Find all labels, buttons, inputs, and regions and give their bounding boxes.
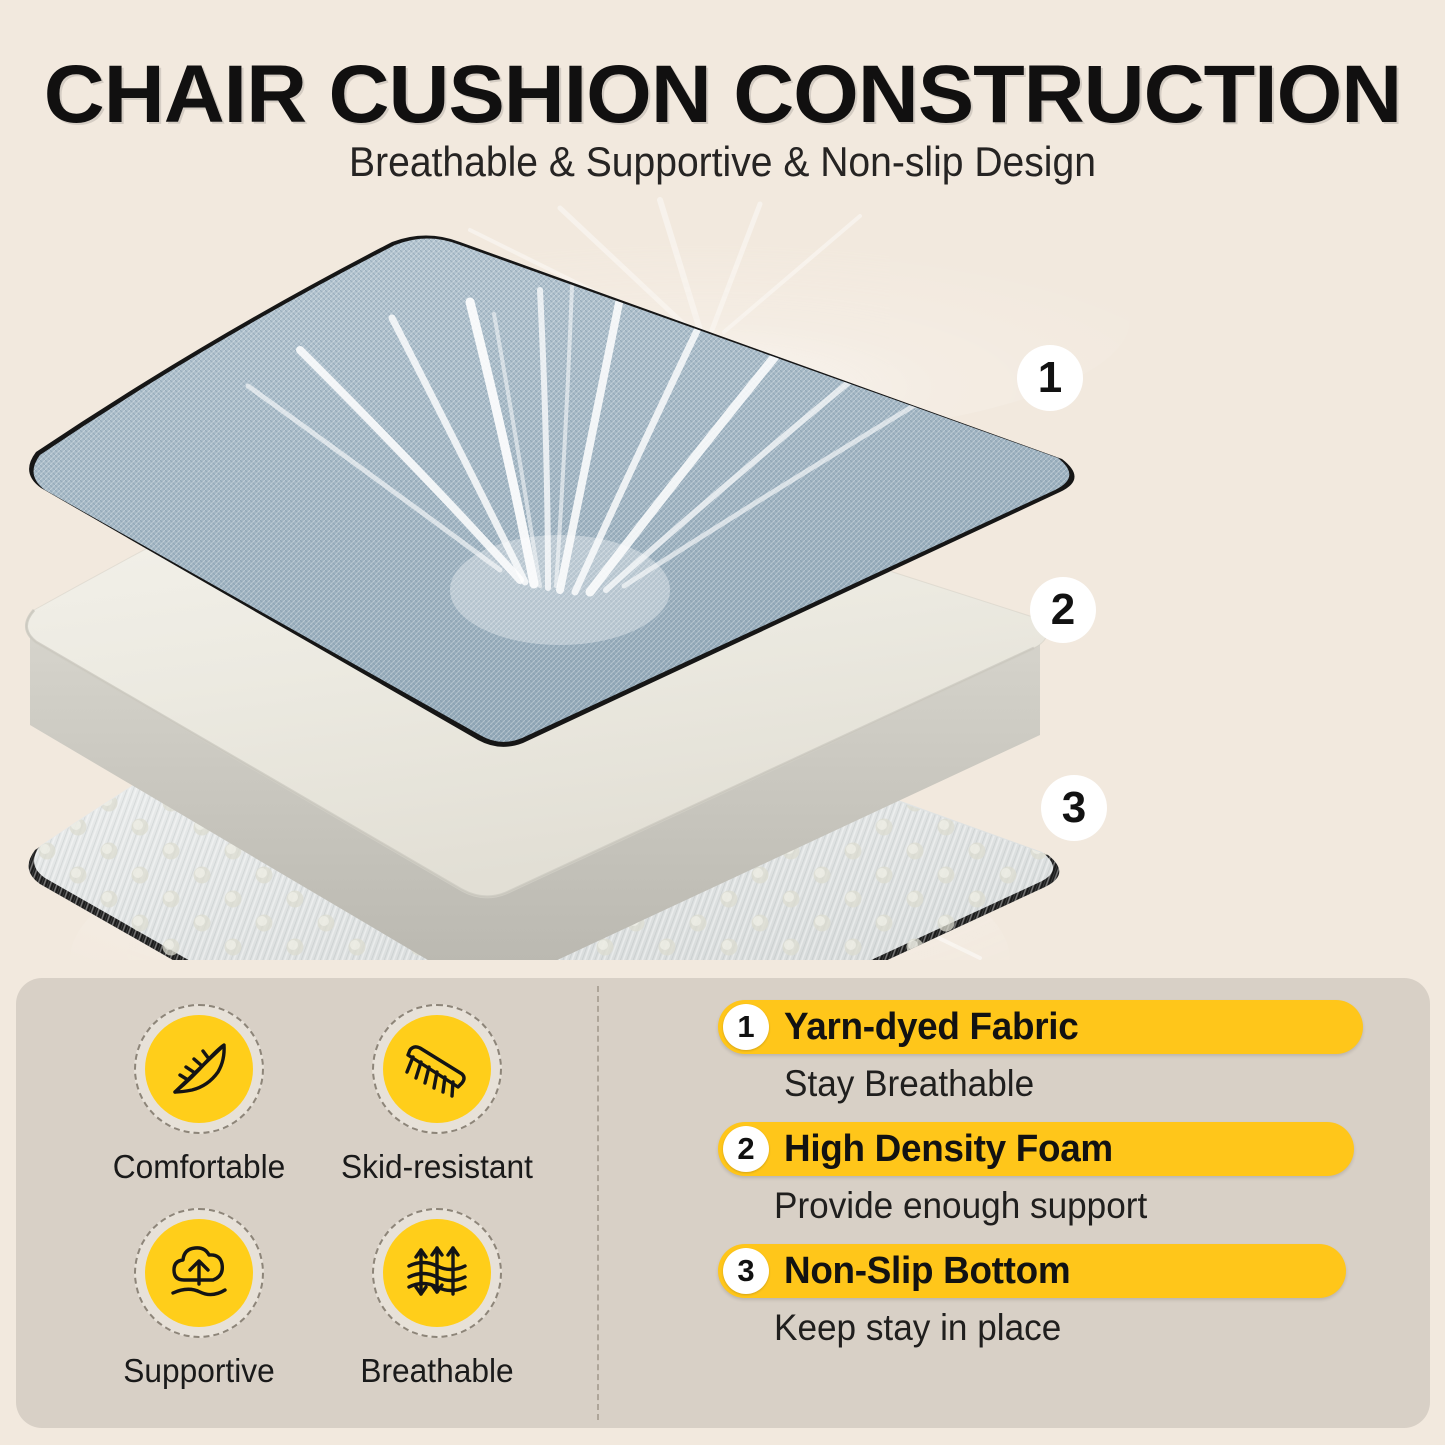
feature-pill[interactable]: 2 High Density Foam: [718, 1122, 1354, 1176]
feather-icon: [145, 1015, 253, 1123]
feature-item[interactable]: 3 Non-Slip Bottom Keep stay in place: [718, 1244, 1398, 1352]
feature-caption: Provide enough support: [774, 1182, 1367, 1230]
feature-caption: Stay Breathable: [784, 1060, 1367, 1108]
layer-badge-2-label: 2: [1051, 585, 1075, 634]
icon-ring: [134, 1208, 264, 1338]
feature-title: Non-Slip Bottom: [784, 1244, 1070, 1298]
feature-title: Yarn-dyed Fabric: [784, 1000, 1078, 1054]
icon-ring: [372, 1004, 502, 1134]
feature-item[interactable]: 2 High Density Foam Provide enough suppo…: [718, 1122, 1398, 1230]
features-panel: Comfortable: [16, 978, 1430, 1428]
feature-item[interactable]: 1 Yarn-dyed Fabric Stay Breathable: [718, 1000, 1398, 1108]
benefit-comfortable[interactable]: Comfortable: [84, 1004, 314, 1187]
airflow-arrows-icon: [383, 1219, 491, 1327]
feature-pill[interactable]: 1 Yarn-dyed Fabric: [718, 1000, 1363, 1054]
feature-caption: Keep stay in place: [774, 1304, 1367, 1352]
header: CHAIR CUSHION CONSTRUCTION Breathable & …: [0, 0, 1445, 200]
icon-ring: [134, 1004, 264, 1134]
cloud-arrow-up-icon: [145, 1219, 253, 1327]
feature-number-badge: 1: [723, 1004, 769, 1050]
layer-badge-1-label: 1: [1038, 353, 1062, 402]
feature-title: High Density Foam: [784, 1122, 1113, 1176]
panel-divider: [597, 986, 599, 1420]
icon-ring: [372, 1208, 502, 1338]
benefit-label: Supportive: [89, 1351, 310, 1391]
feature-number-badge: 2: [723, 1126, 769, 1172]
cushion-exploded-diagram: 3 2: [0, 190, 1445, 960]
benefit-icon-grid: Comfortable: [74, 1000, 574, 1406]
benefit-label: Breathable: [327, 1351, 548, 1391]
page-subtitle: Breathable & Supportive & Non-slip Desig…: [51, 136, 1395, 188]
benefit-skid-resistant[interactable]: Skid-resistant: [322, 1004, 552, 1187]
benefit-label: Comfortable: [89, 1147, 310, 1187]
brush-bristles-icon: [383, 1015, 491, 1123]
benefit-supportive[interactable]: Supportive: [84, 1208, 314, 1391]
feature-pill[interactable]: 3 Non-Slip Bottom: [718, 1244, 1346, 1298]
feature-list: 1 Yarn-dyed Fabric Stay Breathable 2 Hig…: [718, 1000, 1398, 1366]
benefit-breathable[interactable]: Breathable: [322, 1208, 552, 1391]
layer-badge-3-label: 3: [1062, 783, 1086, 832]
page-title: CHAIR CUSHION CONSTRUCTION: [0, 48, 1445, 142]
feature-number-badge: 3: [723, 1248, 769, 1294]
benefit-label: Skid-resistant: [327, 1147, 548, 1187]
